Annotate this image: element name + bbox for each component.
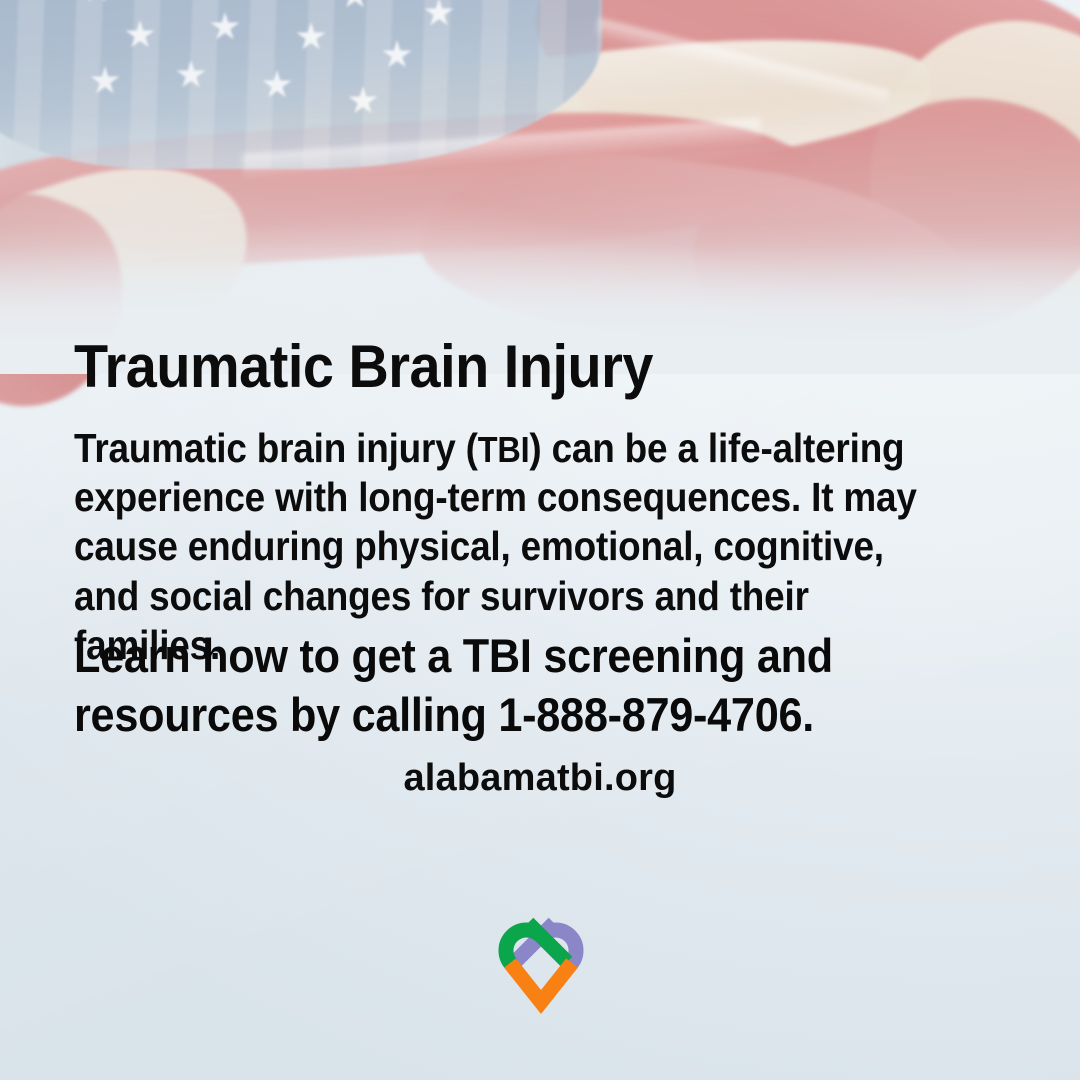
- flag-star: [348, 86, 378, 116]
- tbi-awareness-poster: Traumatic Brain Injury Traumatic brain i…: [0, 0, 1080, 1080]
- flag-star: [82, 0, 112, 4]
- interlocking-heart-logo: [484, 903, 598, 1015]
- logo-stroke-orange-v: [510, 963, 572, 1002]
- flag-star: [125, 20, 155, 50]
- flag-star: [296, 22, 326, 52]
- body-lead: Traumatic brain injury (: [74, 425, 478, 471]
- american-flag-photo: [0, 0, 1080, 344]
- flag-star: [90, 66, 120, 96]
- flag-star: [340, 0, 370, 10]
- flag-star: [210, 12, 240, 42]
- flag-star: [262, 70, 292, 100]
- call-to-action-text: Learn how to get a TBI screening and res…: [74, 627, 957, 745]
- page-title: Traumatic Brain Injury: [74, 336, 967, 397]
- tbi-abbreviation: TBI: [478, 429, 530, 470]
- website-url[interactable]: alabamatbi.org: [0, 757, 1080, 800]
- heart-logo-svg: [484, 903, 598, 1015]
- flag-star: [424, 0, 454, 28]
- flag-star: [176, 60, 206, 90]
- flag-star: [382, 40, 412, 70]
